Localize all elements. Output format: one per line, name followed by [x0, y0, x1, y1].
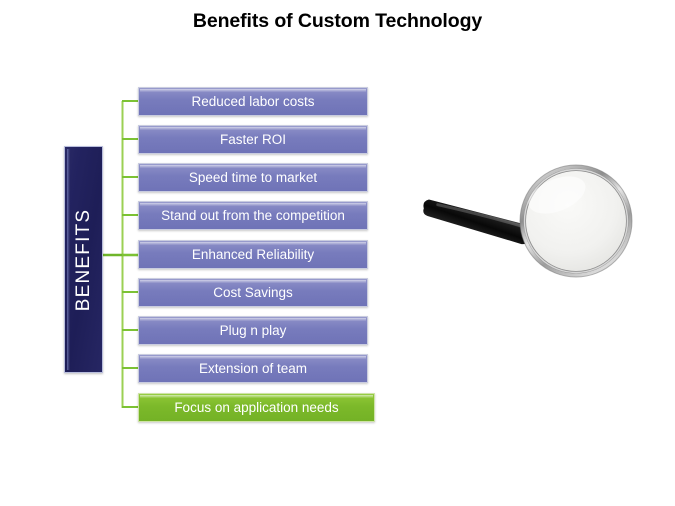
benefit-item-5[interactable]: Enhanced Reliability [138, 240, 368, 269]
benefit-item-1[interactable]: Reduced labor costs [138, 87, 368, 116]
benefit-item-label: Faster ROI [220, 133, 286, 147]
benefits-stem-label: BENEFITS [73, 208, 95, 311]
benefit-item-6[interactable]: Cost Savings [138, 278, 368, 307]
benefit-item-label: Cost Savings [213, 286, 293, 300]
magnifying-glass-icon [405, 155, 640, 295]
benefit-item-3[interactable]: Speed time to market [138, 163, 368, 192]
benefit-item-label: Reduced labor costs [191, 95, 314, 109]
benefit-item-label: Plug n play [220, 324, 287, 338]
benefit-item-label: Extension of team [199, 362, 307, 376]
benefit-item-label: Enhanced Reliability [192, 248, 314, 262]
slide-canvas: Benefits of Custom Technology BENEFITS R… [0, 0, 675, 506]
benefit-item-label: Focus on application needs [174, 401, 338, 415]
benefit-item-9-highlighted[interactable]: Focus on application needs [138, 393, 375, 422]
benefit-item-2[interactable]: Faster ROI [138, 125, 368, 154]
benefit-item-4[interactable]: Stand out from the competition [138, 201, 368, 230]
benefit-item-label: Speed time to market [189, 171, 317, 185]
benefit-item-8[interactable]: Extension of team [138, 354, 368, 383]
benefits-stem: BENEFITS [64, 146, 103, 373]
benefit-item-label: Stand out from the competition [161, 209, 345, 223]
benefit-item-7[interactable]: Plug n play [138, 316, 368, 345]
